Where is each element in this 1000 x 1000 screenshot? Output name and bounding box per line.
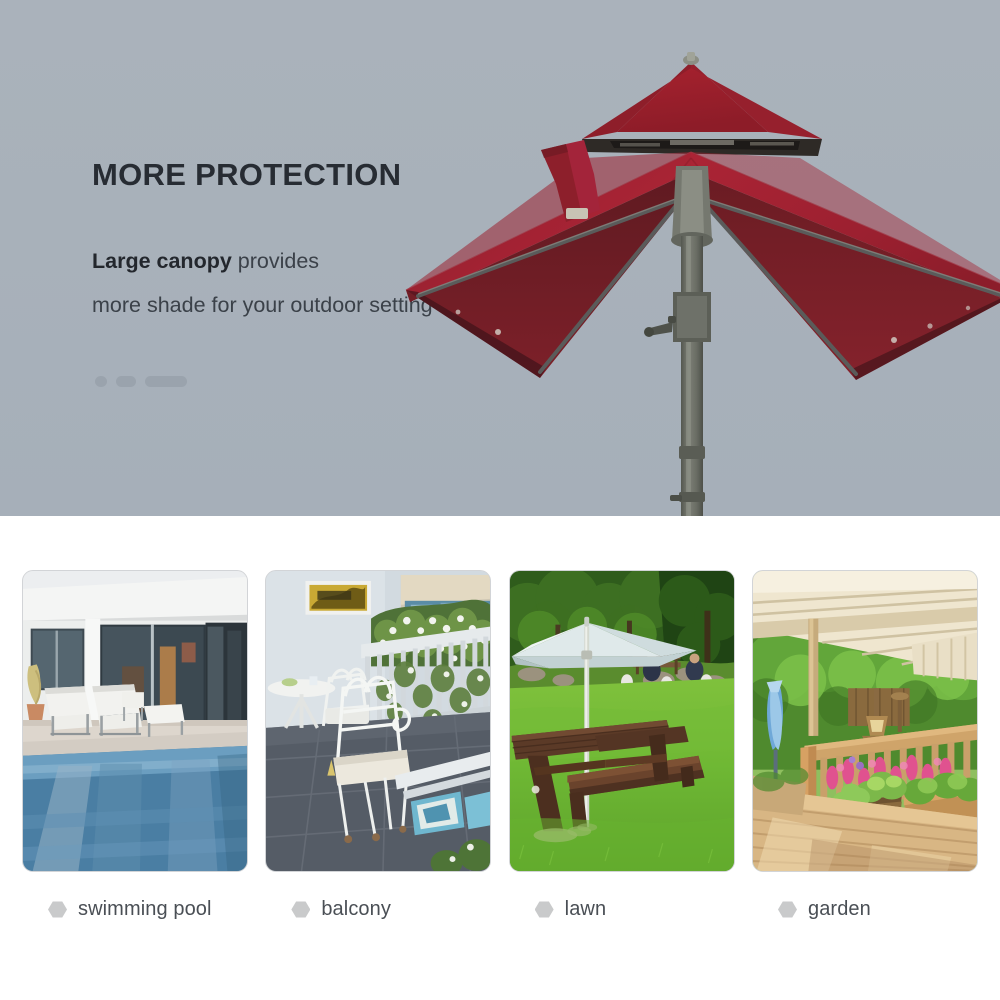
progress-dot-1: [95, 376, 107, 387]
product-image-umbrella: [370, 40, 1000, 516]
hexagon-icon: [48, 901, 67, 918]
slide-progress-indicator: [95, 376, 187, 387]
scenario-card-swimming-pool[interactable]: [22, 570, 248, 872]
caption-label: garden: [808, 898, 871, 921]
hexagon-icon: [535, 901, 554, 918]
hexagon-icon: [778, 901, 797, 918]
hexagon-icon: [291, 901, 310, 918]
caption-lawn: lawn: [509, 898, 735, 921]
hero-subtitle-emphasis: Large canopy: [92, 249, 232, 273]
caption-label: balcony: [321, 898, 391, 921]
scenario-card-lawn[interactable]: [509, 570, 735, 872]
scene-image-lawn: [510, 571, 734, 871]
progress-bar-2: [116, 376, 136, 387]
scenario-caption-list: swimming pool balcony lawn garden: [22, 898, 978, 921]
scenario-card-garden[interactable]: [752, 570, 978, 872]
hero-banner: MORE PROTECTION Large canopy provides mo…: [0, 0, 1000, 516]
caption-garden: garden: [752, 898, 978, 921]
hero-subtitle-rest: provides: [232, 249, 319, 273]
caption-label: swimming pool: [78, 898, 212, 921]
caption-swimming-pool: swimming pool: [22, 898, 248, 921]
scenario-card-list: [22, 570, 978, 872]
scenario-card-balcony[interactable]: [265, 570, 491, 872]
caption-label: lawn: [565, 898, 607, 921]
usage-scenarios-gallery: swimming pool balcony lawn garden: [0, 516, 1000, 1000]
scene-image-balcony: [266, 571, 490, 871]
scene-image-garden: [753, 571, 977, 871]
progress-bar-3: [145, 376, 187, 387]
scene-image-swimming-pool: [23, 571, 247, 871]
caption-balcony: balcony: [265, 898, 491, 921]
